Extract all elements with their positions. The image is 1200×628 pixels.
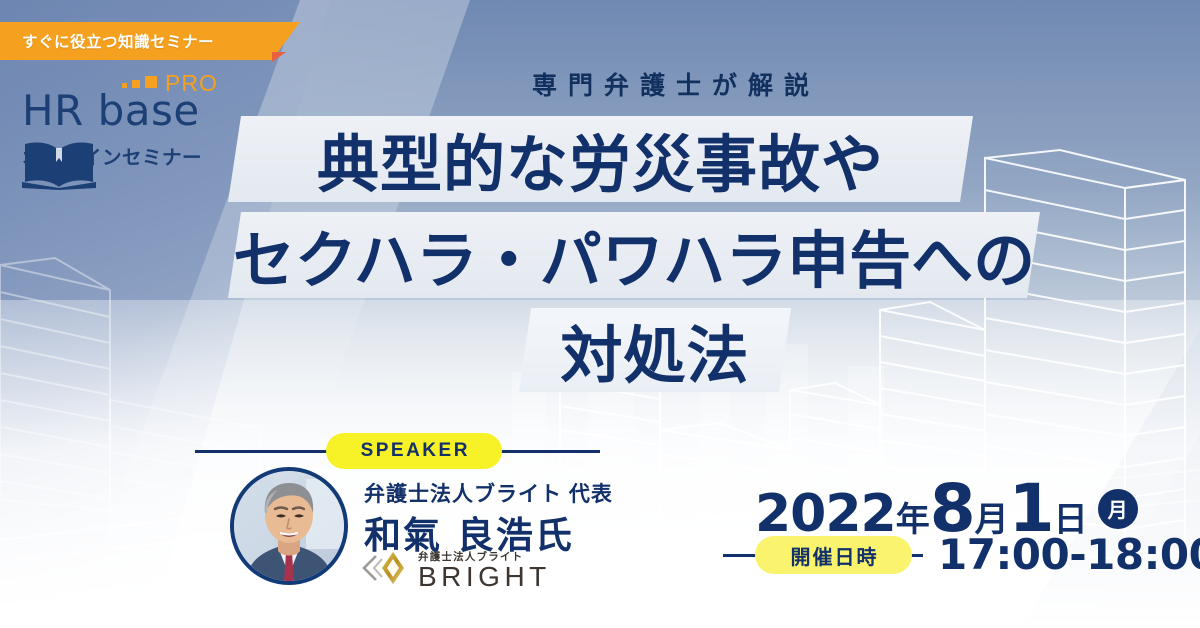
schedule-badge-label: 開催日時 [789, 541, 879, 570]
seminar-banner: すぐに役立つ知識セミナー PRO HR base オンラインセミナー 専門弁護士… [0, 0, 1200, 628]
schedule-badge: 開催日時 [755, 536, 912, 574]
speaker-role: 弁護士法人ブライト 代表 [364, 478, 613, 508]
speaker-avatar [230, 467, 348, 585]
date-year: 2022 [755, 484, 896, 544]
eyebrow-text: 専門弁護士が解説 [0, 66, 1200, 102]
speaker-badge-label: SPEAKER [358, 440, 470, 462]
ribbon-banner: すぐに役立つ知識セミナー [0, 22, 300, 60]
title-text-3: 対処法 [519, 308, 791, 392]
eyebrow-label: 専門弁護士が解説 [391, 66, 820, 102]
title-line-1: 典型的な労災事故や [228, 116, 973, 202]
title-text-1: 典型的な労災事故や [228, 116, 973, 202]
bright-firm-en: BRIGHT [418, 561, 551, 593]
open-book-icon [20, 138, 98, 195]
title-text-2: セクハラ・パワハラ申告への [228, 212, 1040, 298]
title-line-2: セクハラ・パワハラ申告への [228, 212, 1040, 298]
ribbon-label: すぐに役立つ知識セミナー [0, 30, 214, 52]
speaker-badge: SPEAKER [326, 433, 502, 469]
bright-diamond-icon [360, 548, 416, 593]
date-day-of-week: 月 [1098, 489, 1138, 529]
date-year-unit: 年 [896, 500, 930, 540]
event-time: 17:00-18:00 [938, 530, 1200, 579]
title-line-3: 対処法 [519, 308, 791, 392]
